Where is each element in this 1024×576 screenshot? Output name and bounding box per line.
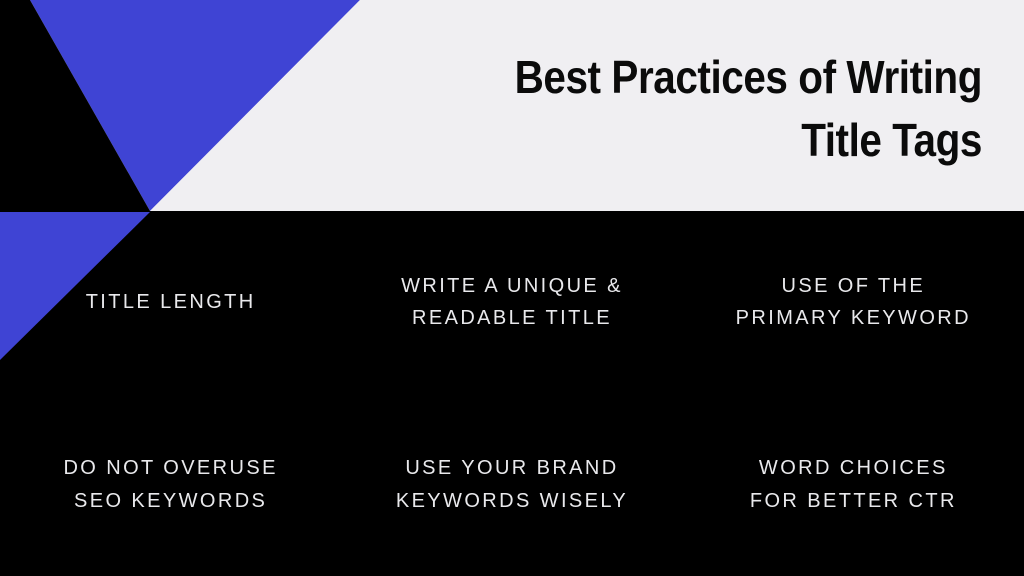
title-line-2: Title Tags (401, 109, 982, 172)
best-practices-grid: TITLE LENGTH WRITE A UNIQUE & READABLE T… (0, 211, 1024, 576)
title-line-1: Best Practices of Writing (401, 46, 982, 109)
practice-item-label: USE YOUR BRAND KEYWORDS WISELY (396, 452, 628, 517)
page-title: Best Practices of Writing Title Tags (322, 46, 982, 172)
practice-item-primary-keyword[interactable]: USE OF THE PRIMARY KEYWORD (683, 211, 1024, 394)
practice-item-label: WORD CHOICES FOR BETTER CTR (750, 452, 957, 517)
practice-item-do-not-overuse-seo-keywords[interactable]: DO NOT OVERUSE SEO KEYWORDS (0, 394, 341, 576)
practice-item-label: USE OF THE PRIMARY KEYWORD (736, 270, 971, 335)
practice-item-label: DO NOT OVERUSE SEO KEYWORDS (63, 452, 277, 517)
practice-item-label: WRITE A UNIQUE & READABLE TITLE (401, 270, 623, 335)
slide-canvas: Best Practices of Writing Title Tags TIT… (0, 0, 1024, 576)
practice-item-brand-keywords[interactable]: USE YOUR BRAND KEYWORDS WISELY (341, 394, 682, 576)
practice-item-label: TITLE LENGTH (86, 286, 256, 318)
practice-item-title-length[interactable]: TITLE LENGTH (0, 211, 341, 394)
practice-item-unique-readable-title[interactable]: WRITE A UNIQUE & READABLE TITLE (341, 211, 682, 394)
practice-item-word-choices-ctr[interactable]: WORD CHOICES FOR BETTER CTR (683, 394, 1024, 576)
